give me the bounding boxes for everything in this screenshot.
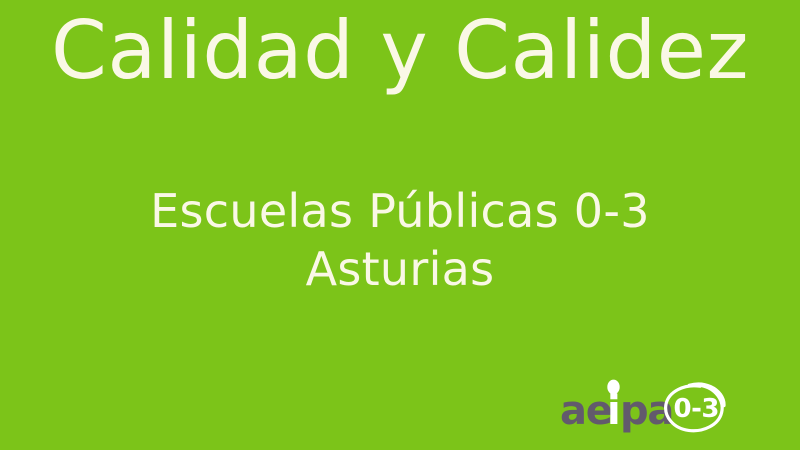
logo-wordmark-ae: ae bbox=[560, 388, 612, 434]
subtitle-block: Escuelas Públicas 0-3 Asturias bbox=[0, 182, 800, 298]
aeipa-logo-graphic: ae i pa 0-3 bbox=[548, 372, 744, 438]
logo-badge-label: 0-3 bbox=[674, 394, 719, 424]
subtitle-line-2: Asturias bbox=[0, 240, 800, 298]
logo-wordmark-i: i bbox=[607, 388, 621, 434]
title-slide: Calidad y Calidez Escuelas Públicas 0-3 … bbox=[0, 0, 800, 450]
aeipa-logo: ae i pa 0-3 bbox=[548, 372, 744, 438]
subtitle-line-1: Escuelas Públicas 0-3 bbox=[0, 182, 800, 240]
title-block: Calidad y Calidez bbox=[0, 4, 800, 98]
page-title: Calidad y Calidez bbox=[0, 4, 800, 98]
